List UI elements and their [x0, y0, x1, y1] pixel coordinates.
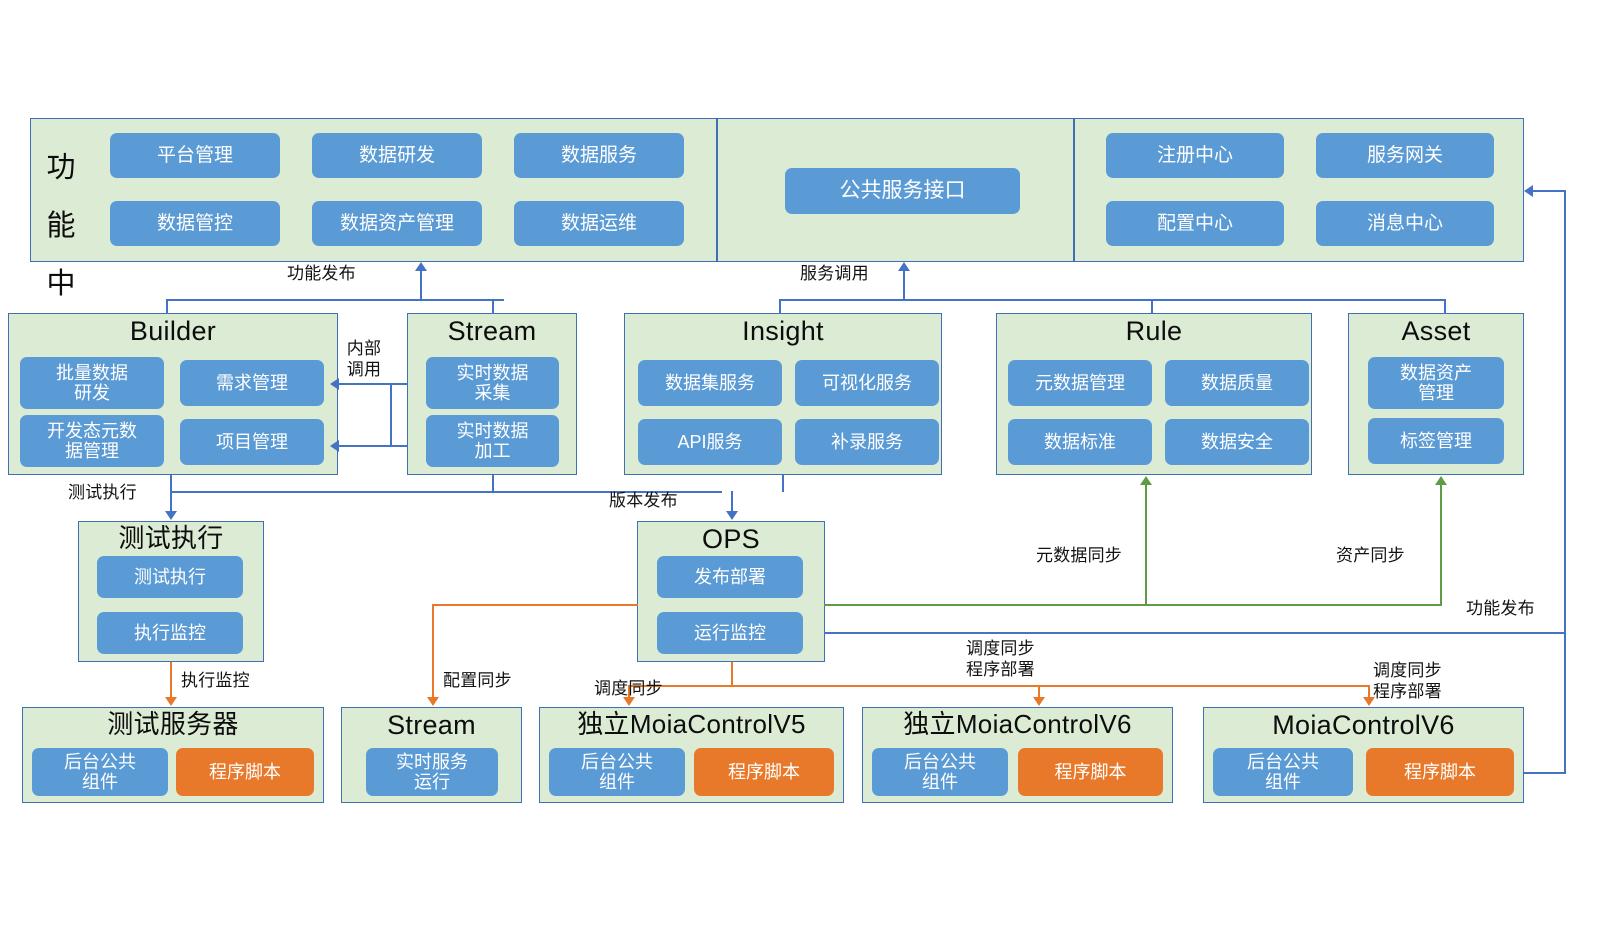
chip-data-governance[interactable]: 数据管控 — [110, 201, 280, 246]
edge-metadata-sync-horizontal — [824, 604, 1146, 606]
panel-title-moiacontrolv6: MoiaControlV6 — [1204, 708, 1523, 739]
panel-title-rule: Rule — [997, 314, 1311, 345]
chip-public-service-interface[interactable]: 公共服务接口 — [785, 168, 1020, 214]
chip-data-operations[interactable]: 数据运维 — [514, 201, 684, 246]
label-service-call: 服务调用 — [800, 263, 869, 284]
chip-config-center[interactable]: 配置中心 — [1106, 201, 1284, 246]
edge-test-exec-arrowhead — [165, 511, 177, 520]
chip-project-management[interactable]: 项目管理 — [180, 419, 324, 465]
edge-feature-publish-right-riser — [1564, 190, 1566, 774]
edge-feature-publish-right-top — [1532, 190, 1566, 192]
chip-data-asset-management-asset[interactable]: 数据资产 管理 — [1368, 357, 1504, 409]
chip-metadata-management[interactable]: 元数据管理 — [1008, 360, 1152, 406]
chip-realtime-service-runtime[interactable]: 实时服务 运行 — [366, 748, 498, 796]
edge-service-call-stem-asset — [1444, 299, 1446, 314]
chip-supplementary-record-service[interactable]: 补录服务 — [795, 419, 939, 465]
chip-program-script-standalone-v6[interactable]: 程序脚本 — [1018, 748, 1163, 796]
edge-internal-call-vertical — [390, 383, 392, 445]
chip-program-script-test-server[interactable]: 程序脚本 — [176, 748, 314, 796]
edge-feature-publish-stem-stream — [492, 299, 494, 314]
chip-registry-center[interactable]: 注册中心 — [1106, 133, 1284, 178]
edge-service-call-riser — [903, 271, 905, 300]
chip-test-execution[interactable]: 测试执行 — [97, 556, 243, 598]
chip-data-service[interactable]: 数据服务 — [514, 133, 684, 178]
chip-batch-data-development[interactable]: 批量数据 研发 — [20, 357, 164, 409]
chip-dev-metadata-management[interactable]: 开发态元数 据管理 — [20, 415, 164, 467]
chip-program-script-v5[interactable]: 程序脚本 — [694, 748, 834, 796]
edge-metadata-sync-riser — [1145, 484, 1147, 605]
edge-feature-publish-right-arrowhead — [1524, 185, 1533, 197]
panel-title-builder: Builder — [9, 314, 337, 345]
label-schedule-sync-deploy-mid: 调度同步 程序部署 — [966, 638, 1035, 681]
side-label-char-1: 能 — [40, 212, 82, 241]
panel-title-standalone-moiacontrolv5: 独立MoiaControlV5 — [540, 708, 843, 738]
edge-internal-call-upper — [337, 383, 407, 385]
edge-asset-sync-arrowhead — [1435, 476, 1447, 485]
architecture-diagram-canvas: 功 能 中 心 平台管理 数据研发 数据服务 数据管控 数据资产管理 数据运维 … — [0, 0, 1611, 940]
chip-backend-common-component-standalone-v6[interactable]: 后台公共 组件 — [872, 748, 1008, 796]
edge-version-publish-stem-stream — [492, 475, 494, 492]
chip-data-security[interactable]: 数据安全 — [1165, 419, 1309, 465]
edge-test-exec-drop — [170, 491, 172, 512]
edge-service-call-stem-insight — [779, 299, 781, 314]
chip-realtime-data-processing[interactable]: 实时数据 加工 — [426, 415, 559, 467]
chip-platform-management[interactable]: 平台管理 — [110, 133, 280, 178]
chip-program-script-v6[interactable]: 程序脚本 — [1366, 748, 1514, 796]
edge-service-call-stem-rule — [1151, 299, 1153, 314]
panel-title-insight: Insight — [625, 314, 941, 345]
edge-feature-publish-right-bottom — [1524, 772, 1566, 774]
chip-data-development[interactable]: 数据研发 — [312, 133, 482, 178]
edge-config-sync-horizontal — [432, 604, 638, 606]
label-test-execute: 测试执行 — [68, 482, 137, 503]
chip-tag-management[interactable]: 标签管理 — [1368, 418, 1504, 464]
edge-service-call-horizontal — [779, 299, 1446, 301]
chip-backend-common-component-v6[interactable]: 后台公共 组件 — [1213, 748, 1353, 796]
chip-data-standard[interactable]: 数据标准 — [1008, 419, 1152, 465]
label-schedule-sync: 调度同步 — [594, 678, 663, 699]
chip-data-quality[interactable]: 数据质量 — [1165, 360, 1309, 406]
edge-asset-sync-riser — [1440, 484, 1442, 605]
chip-api-service[interactable]: API服务 — [638, 419, 782, 465]
edge-feature-publish-horizontal — [166, 299, 504, 301]
label-asset-sync: 资产同步 — [1336, 545, 1405, 566]
edge-version-publish-drop — [731, 491, 733, 512]
chip-message-center[interactable]: 消息中心 — [1316, 201, 1494, 246]
label-internal-call: 内部 调用 — [340, 338, 388, 381]
edge-feature-publish-arrowhead — [415, 262, 427, 271]
edge-internal-call-arrow-upper — [330, 378, 339, 390]
chip-backend-common-component-v5[interactable]: 后台公共 组件 — [549, 748, 685, 796]
label-config-sync: 配置同步 — [443, 670, 512, 691]
panel-title-test-execution: 测试执行 — [79, 522, 263, 552]
panel-title-asset: Asset — [1349, 314, 1523, 345]
edge-asset-sync-horizontal — [1145, 604, 1442, 606]
label-schedule-sync-deploy-right: 调度同步 程序部署 — [1373, 660, 1442, 703]
label-version-publish: 版本发布 — [609, 490, 678, 511]
chip-requirement-management[interactable]: 需求管理 — [180, 360, 324, 406]
chip-service-gateway[interactable]: 服务网关 — [1316, 133, 1494, 178]
label-feature-publish-right: 功能发布 — [1466, 598, 1535, 619]
chip-backend-common-component-test-server[interactable]: 后台公共 组件 — [32, 748, 168, 796]
edge-service-call-arrowhead — [898, 262, 910, 271]
edge-ops-right-blue — [824, 632, 1564, 634]
label-metadata-sync: 元数据同步 — [1036, 545, 1122, 566]
edge-config-sync-drop — [432, 604, 434, 698]
edge-exec-monitor-line — [170, 662, 172, 698]
chip-dataset-service[interactable]: 数据集服务 — [638, 360, 782, 406]
edge-config-sync-arrowhead — [427, 697, 439, 706]
panel-title-stream: Stream — [408, 314, 576, 345]
panel-title-standalone-moiacontrolv6: 独立MoiaControlV6 — [863, 708, 1172, 738]
chip-runtime-monitoring[interactable]: 运行监控 — [657, 612, 803, 654]
edge-version-publish-stem-insight — [782, 475, 784, 492]
panel-title-test-server: 测试服务器 — [23, 708, 323, 738]
edge-feature-publish-stem-left — [166, 299, 168, 314]
chip-realtime-data-collection[interactable]: 实时数据 采集 — [426, 357, 559, 409]
panel-title-ops: OPS — [638, 522, 824, 553]
edge-schedule-sync-bus — [628, 685, 1369, 687]
edge-test-exec-down-from-builder — [170, 475, 172, 492]
chip-release-deploy[interactable]: 发布部署 — [657, 556, 803, 598]
chip-execution-monitoring[interactable]: 执行监控 — [97, 612, 243, 654]
edge-exec-monitor-arrowhead — [165, 697, 177, 706]
label-exec-monitor: 执行监控 — [181, 670, 250, 691]
side-label-char-2: 中 — [40, 270, 82, 299]
side-label-char-0: 功 — [40, 154, 82, 183]
band-divider-1 — [716, 118, 718, 262]
edge-metadata-sync-arrowhead — [1140, 476, 1152, 485]
edge-schedule-sync-arrowhead-standalone-v6 — [1033, 697, 1045, 706]
label-feature-publish-top: 功能发布 — [287, 263, 356, 284]
edge-internal-call-lower — [337, 445, 407, 447]
panel-title-stream-server: Stream — [342, 708, 521, 739]
band-divider-2 — [1073, 118, 1075, 262]
chip-visualization-service[interactable]: 可视化服务 — [795, 360, 939, 406]
edge-version-publish-arrowhead — [726, 511, 738, 520]
chip-data-asset-management[interactable]: 数据资产管理 — [312, 201, 482, 246]
edge-schedule-sync-stem — [731, 662, 733, 686]
edge-feature-publish-riser — [420, 271, 422, 300]
edge-internal-call-arrow-lower — [330, 440, 339, 452]
